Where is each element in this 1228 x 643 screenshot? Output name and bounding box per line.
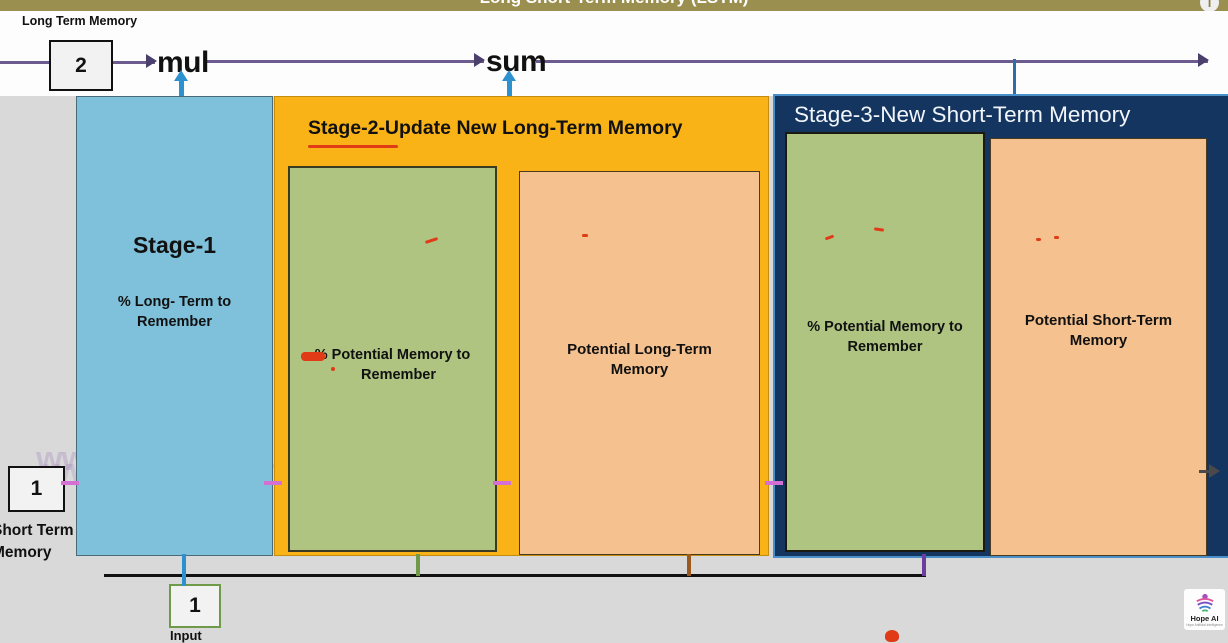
stage-2-potential-long-term-memory-label: Potential Long-TermMemory — [559, 340, 720, 380]
red-annotation-dot — [331, 367, 335, 371]
stage-3-potential-short-term-memory-label: Potential Short-TermMemory — [1017, 311, 1180, 351]
window-title: Long Short-Term Memory (LSTM) — [0, 0, 1228, 8]
hope-ai-logo: Hope AI Hope Artificial Intelligence — [1184, 589, 1225, 630]
stm-value-node[interactable]: 1 — [8, 466, 65, 512]
input-label: Input — [170, 628, 202, 643]
arrow-ltm-output-icon — [1198, 53, 1209, 67]
hope-ai-logo-text: Hope AI — [1190, 614, 1218, 623]
stage-2-title: Stage-2-Update New Long-Term Memory — [308, 117, 683, 140]
stage-3-percent-potential-memory-box[interactable]: % Potential Memory toRemember — [785, 132, 985, 552]
stage-3-title: Stage-3-New Short-Term Memory — [794, 102, 1130, 128]
diagram-canvas: Long Short-Term Memory (LSTM) i www.hope… — [0, 0, 1228, 638]
stage-3-percent-potential-memory-label: % Potential Memory toRemember — [799, 317, 971, 357]
stage-1-subtitle: % Long- Term toRemember — [77, 292, 272, 332]
input-bus-line — [104, 574, 926, 577]
input-stem-stage2-green — [416, 554, 420, 576]
stage-3-potential-short-term-memory-box[interactable]: Potential Short-TermMemory — [990, 138, 1207, 556]
input-stem-stage1 — [182, 554, 186, 586]
stage-1-title: Stage-1 — [77, 232, 272, 259]
cursor-pointer-dot — [885, 630, 899, 642]
stm-output-arrow-icon — [1209, 464, 1220, 478]
hope-ai-mark-icon — [1194, 593, 1216, 613]
red-annotation-mark — [1036, 238, 1041, 241]
stm-connector-segment-3 — [493, 481, 511, 485]
stage-1-panel[interactable]: Stage-1 % Long- Term toRemember — [76, 96, 273, 556]
ltm-line-segment-left — [0, 61, 50, 64]
red-annotation-mark — [1054, 236, 1059, 239]
red-annotation-blob — [301, 352, 325, 361]
ltm-line-segment-mul-to-sum — [207, 60, 484, 63]
stm-connector-segment-2 — [264, 481, 282, 485]
stm-connector-segment-1 — [61, 481, 79, 485]
hope-ai-logo-tagline: Hope Artificial Intelligence — [1186, 623, 1223, 627]
stage-2-percent-potential-memory-label: % Potential Memory to Remember — [307, 345, 479, 385]
window-title-bar: Long Short-Term Memory (LSTM) i — [0, 0, 1228, 11]
arrow-into-sum-icon — [474, 53, 485, 67]
info-icon[interactable]: i — [1200, 0, 1219, 11]
sum-operator: sum — [486, 45, 546, 79]
input-stem-stage2-orange — [687, 554, 691, 576]
stage-2-potential-long-term-memory-box[interactable]: Potential Long-TermMemory — [519, 171, 760, 555]
stm-connector-segment-4 — [765, 481, 783, 485]
input-stem-stage3 — [922, 554, 926, 576]
arrow-into-mul-icon — [146, 54, 157, 68]
input-value-node[interactable]: 1 — [169, 584, 221, 628]
long-term-memory-label: Long Term Memory — [22, 14, 137, 28]
ltm-line-segment-right — [536, 60, 1208, 63]
red-annotation-mark — [582, 234, 588, 237]
stage-2-title-underline — [308, 145, 398, 148]
ltm-value-node[interactable]: 2 — [49, 40, 113, 91]
